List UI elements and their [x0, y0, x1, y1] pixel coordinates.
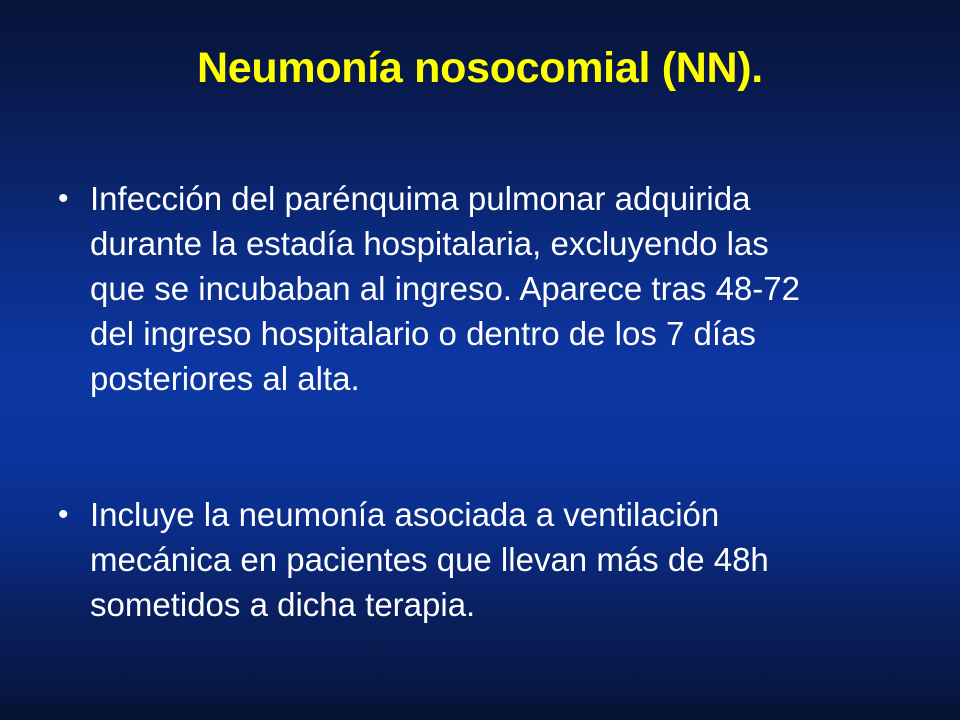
- presentation-slide: Neumonía nosocomial (NN). • Infección de…: [0, 0, 960, 720]
- bullet-item-2-text: Incluye la neumonía asociada a ventilaci…: [90, 492, 908, 627]
- bullet-dot-icon: •: [52, 176, 90, 221]
- bullet-item-1: • Infección del parénquima pulmonar adqu…: [52, 176, 932, 401]
- bullet-item-2: • Incluye la neumonía asociada a ventila…: [52, 492, 932, 627]
- slide-body: • Infección del parénquima pulmonar adqu…: [52, 176, 932, 627]
- bullet-dot-icon: •: [52, 492, 90, 537]
- slide-title: Neumonía nosocomial (NN).: [0, 42, 960, 94]
- bullet-item-1-text: Infección del parénquima pulmonar adquir…: [90, 176, 908, 401]
